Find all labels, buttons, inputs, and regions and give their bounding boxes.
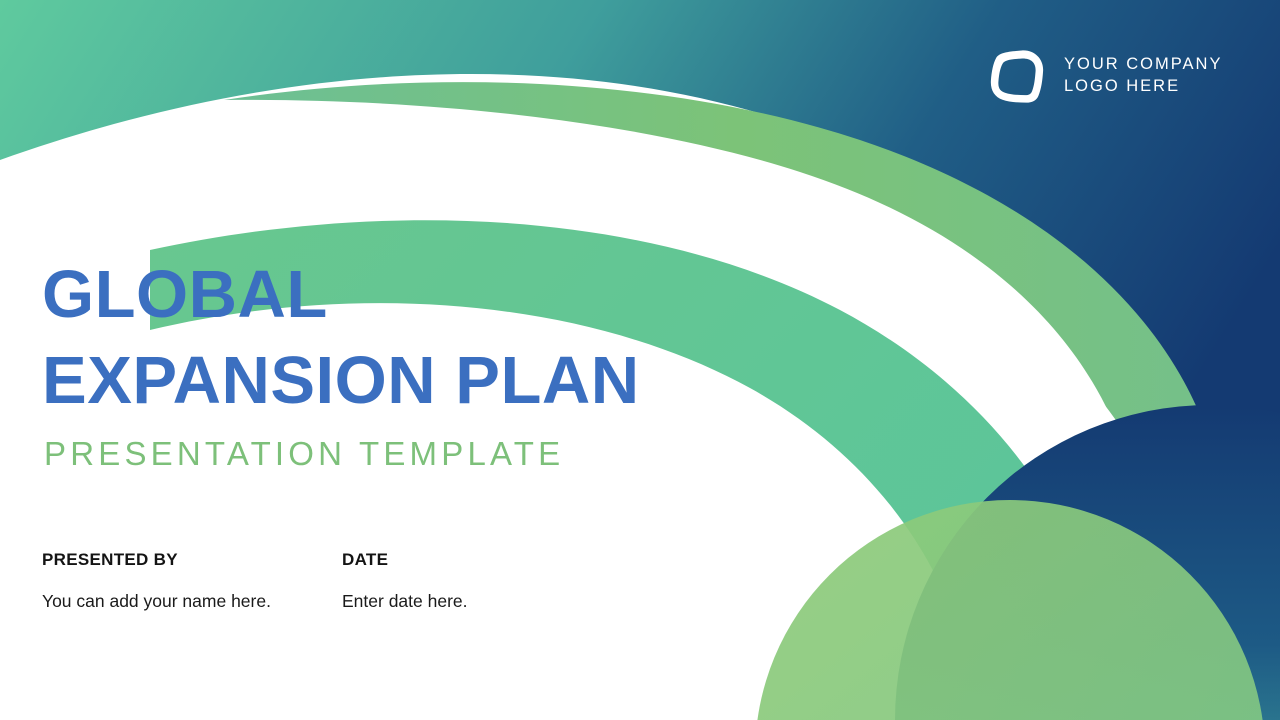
- slide-title: GLOBAL EXPANSION PLAN: [42, 252, 742, 424]
- presentation-slide: YOUR COMPANY LOGO HERE GLOBAL EXPANSION …: [0, 0, 1280, 720]
- date-field[interactable]: DATE Enter date here.: [342, 550, 642, 612]
- title-block: GLOBAL EXPANSION PLAN PRESENTATION TEMPL…: [42, 252, 742, 473]
- date-value[interactable]: Enter date here.: [342, 591, 642, 612]
- company-logo-text: YOUR COMPANY LOGO HERE: [1064, 54, 1222, 98]
- presented-by-label: PRESENTED BY: [42, 550, 342, 570]
- slide-subtitle: PRESENTATION TEMPLATE: [44, 434, 742, 474]
- company-logo-lockup[interactable]: YOUR COMPANY LOGO HERE: [988, 47, 1222, 105]
- date-label: DATE: [342, 550, 642, 570]
- presented-by-field[interactable]: PRESENTED BY You can add your name here.: [42, 550, 342, 612]
- presented-by-value[interactable]: You can add your name here.: [42, 591, 342, 612]
- slide-meta-row: PRESENTED BY You can add your name here.…: [42, 550, 642, 612]
- rounded-square-outline-logo-icon: [988, 47, 1046, 105]
